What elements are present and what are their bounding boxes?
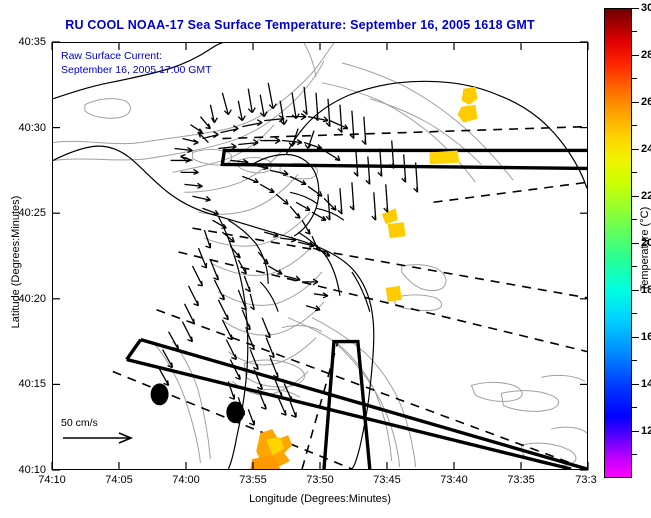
x-tick-label: 74:05	[105, 474, 133, 486]
colorbar-tick	[632, 55, 639, 56]
colorbar-tick	[632, 290, 639, 291]
current-annotation: Raw Surface Current: September 16, 2005 …	[61, 49, 212, 77]
x-tick-label: 74:10	[38, 474, 66, 486]
colorbar-title: Temperature (°C)	[639, 164, 651, 334]
colorbar-tick	[632, 384, 639, 385]
colorbar-tick	[632, 8, 639, 9]
y-tick-label: 40:10	[2, 464, 46, 476]
x-tick-label: 73:35	[507, 474, 535, 486]
current-annotation-line2: September 16, 2005 17:00 GMT	[61, 63, 212, 77]
x-tick-label: 73:55	[239, 474, 267, 486]
shipping-lane-polygon	[127, 150, 587, 469]
x-tick-label: 73:40	[440, 474, 468, 486]
y-axis-title: Latitude (Degrees:Minutes)	[10, 162, 22, 362]
y-tick-label: 40:15	[2, 378, 46, 390]
x-tick-label: 74:00	[172, 474, 200, 486]
x-axis-title: Longitude (Degrees:Minutes)	[52, 493, 588, 505]
scale-bar-arrow-icon	[61, 431, 141, 445]
colorbar-tick	[632, 102, 639, 103]
y-tick-label: 40:35	[2, 36, 46, 48]
colorbar-tick	[632, 431, 639, 432]
colorbar-tick	[632, 149, 639, 150]
colorbar-tick-label: 26	[641, 96, 651, 108]
y-tick-label: 40:25	[2, 207, 46, 219]
colorbar-tick-label: 12	[641, 425, 651, 437]
scale-bar-label: 50 cm/s	[61, 417, 157, 429]
colorbar-tick-label: 28	[641, 49, 651, 61]
current-annotation-line1: Raw Surface Current:	[61, 49, 212, 63]
colorbar-tick	[632, 243, 639, 244]
colorbar-tick-label: 30	[641, 2, 651, 14]
y-tick-label: 40:20	[2, 293, 46, 305]
map-plot-area: Raw Surface Current: September 16, 2005 …	[52, 42, 588, 470]
radial-transect-lines	[113, 127, 587, 469]
y-tick-label: 40:30	[2, 122, 46, 134]
x-tick-label: 73:3	[575, 474, 596, 486]
scale-bar: 50 cm/s	[61, 417, 157, 445]
colorbar-tick-label: 14	[641, 378, 651, 390]
page-title: RU COOL NOAA-17 Sea Surface Temperature:…	[0, 18, 600, 32]
colorbar-tick-label: 24	[641, 143, 651, 155]
colorbar	[604, 8, 632, 478]
map-canvas	[53, 43, 587, 469]
x-tick-label: 73:50	[306, 474, 334, 486]
colorbar-tick	[632, 337, 639, 338]
colorbar-tick	[632, 196, 639, 197]
x-tick-label: 73:45	[373, 474, 401, 486]
